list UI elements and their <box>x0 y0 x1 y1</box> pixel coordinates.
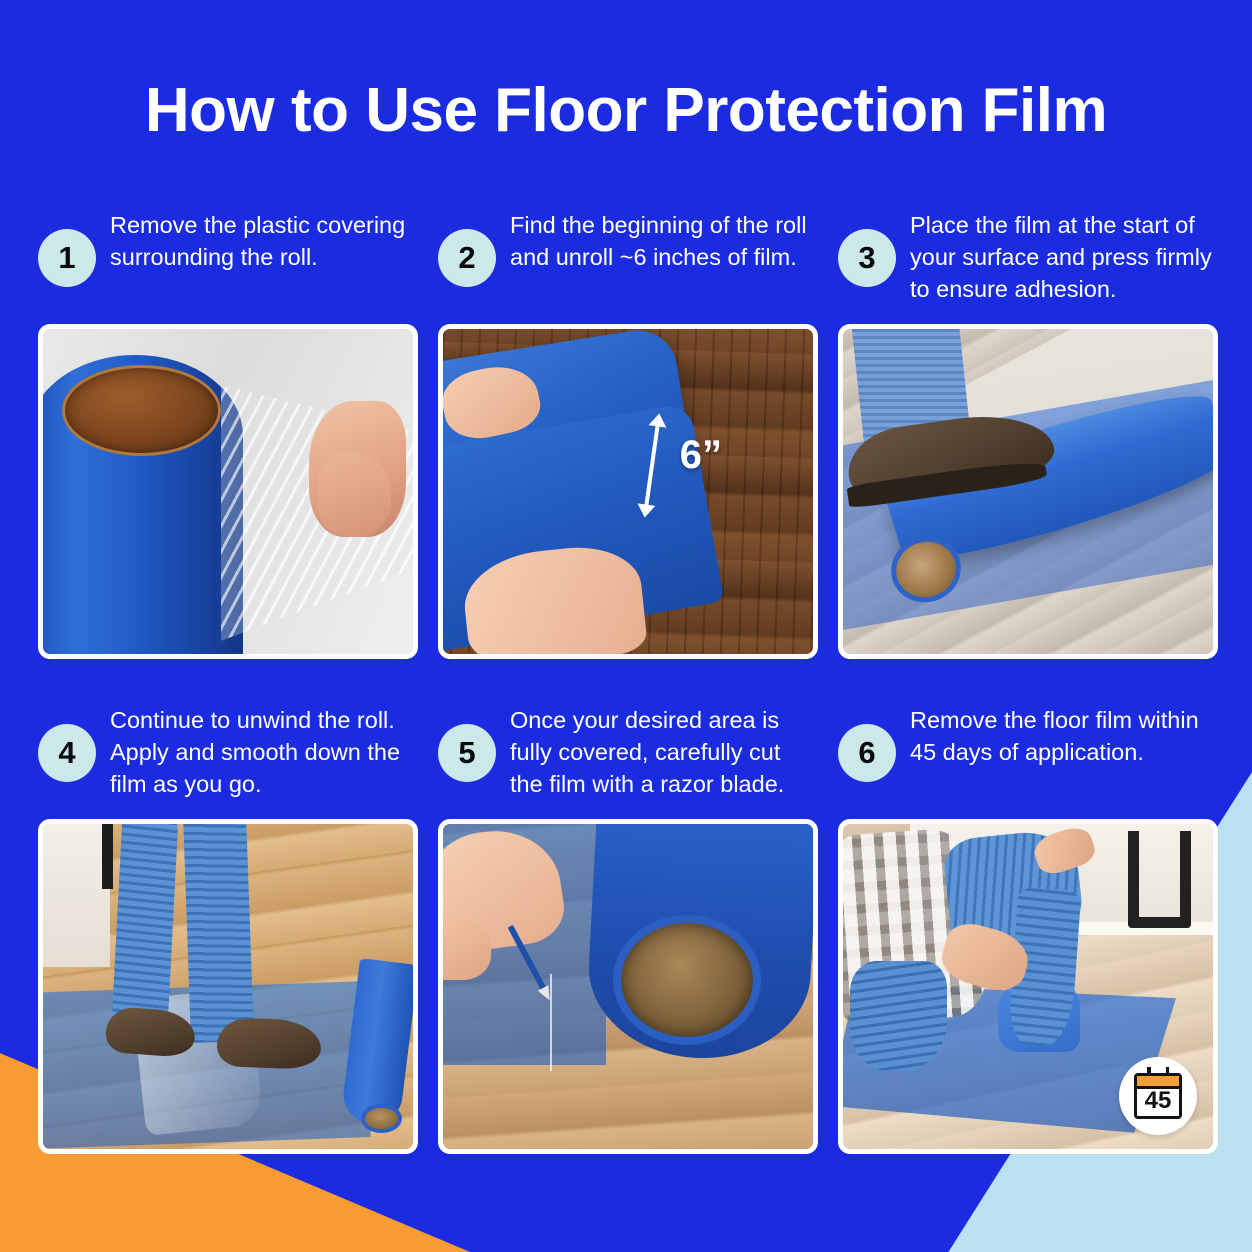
cardboard-core <box>613 915 761 1045</box>
days-badge: 45 <box>1119 1057 1197 1135</box>
fingers <box>317 453 391 538</box>
calendar-day-number: 45 <box>1145 1089 1172 1116</box>
step-3: 3 Place the film at the start of your su… <box>838 208 1218 659</box>
step-2-photo: 6” <box>438 324 818 659</box>
step-4-number: 4 <box>38 724 96 782</box>
table-leg <box>1128 831 1191 929</box>
step-2: 2 Find the beginning of the roll and unr… <box>438 208 818 659</box>
step-1: 1 Remove the plastic covering surroundin… <box>38 208 418 659</box>
step-1-header: 1 Remove the plastic covering surroundin… <box>38 208 418 324</box>
photo-roll-with-clear-wrap <box>43 329 413 654</box>
jeans-leg-left <box>111 819 178 1030</box>
step-5-header: 5 Once your desired area is fully covere… <box>438 703 818 819</box>
step-4-photo <box>38 819 418 1154</box>
page-title: How to Use Floor Protection Film <box>0 78 1252 143</box>
step-2-number: 2 <box>438 229 496 287</box>
step-6-photo: 45 <box>838 819 1218 1154</box>
step-5-text: Once your desired area is fully covered,… <box>510 703 818 801</box>
step-4-text: Continue to unwind the roll. Apply and s… <box>110 703 418 801</box>
table-leg <box>102 819 113 889</box>
photo-cutting-film-with-blade <box>443 824 813 1149</box>
step-4-header: 4 Continue to unwind the roll. Apply and… <box>38 703 418 819</box>
calendar-ring-left <box>1147 1067 1151 1076</box>
step-3-photo <box>838 324 1218 659</box>
cut-line <box>550 974 552 1072</box>
step-3-text: Place the film at the start of your surf… <box>910 208 1218 306</box>
step-2-text: Find the beginning of the roll and unrol… <box>510 208 818 274</box>
steps-grid: 1 Remove the plastic covering surroundin… <box>38 208 1218 1154</box>
step-3-header: 3 Place the film at the start of your su… <box>838 208 1218 324</box>
photo-boot-pressing-film <box>843 329 1213 654</box>
step-3-number: 3 <box>838 229 896 287</box>
step-6-header: 6 Remove the floor film within 45 days o… <box>838 703 1218 819</box>
measurement-label: 6” <box>680 433 722 478</box>
step-5-number: 5 <box>438 724 496 782</box>
cardboard-core <box>361 1104 402 1133</box>
step-6: 6 Remove the floor film within 45 days o… <box>838 703 1218 1154</box>
jeans-leg-right <box>183 819 254 1043</box>
infographic-page: How to Use Floor Protection Film 1 Remov… <box>0 0 1252 1252</box>
calendar-ring-right <box>1166 1067 1170 1076</box>
cardboard-core <box>62 365 221 456</box>
step-6-number: 6 <box>838 724 896 782</box>
calendar-header-bar <box>1137 1076 1179 1089</box>
step-1-text: Remove the plastic covering surrounding … <box>110 208 418 274</box>
photo-unrolling-film-on-wood: 6” <box>443 329 813 654</box>
jeans-knee <box>850 961 946 1072</box>
step-1-number: 1 <box>38 229 96 287</box>
step-2-header: 2 Find the beginning of the roll and unr… <box>438 208 818 324</box>
photo-walking-on-film <box>43 824 413 1149</box>
calendar-icon: 45 <box>1134 1073 1182 1119</box>
step-5: 5 Once your desired area is fully covere… <box>438 703 818 1154</box>
step-4: 4 Continue to unwind the roll. Apply and… <box>38 703 418 1154</box>
step-6-text: Remove the floor film within 45 days of … <box>910 703 1218 769</box>
wall <box>38 819 110 967</box>
step-5-photo <box>438 819 818 1154</box>
step-1-photo <box>38 324 418 659</box>
